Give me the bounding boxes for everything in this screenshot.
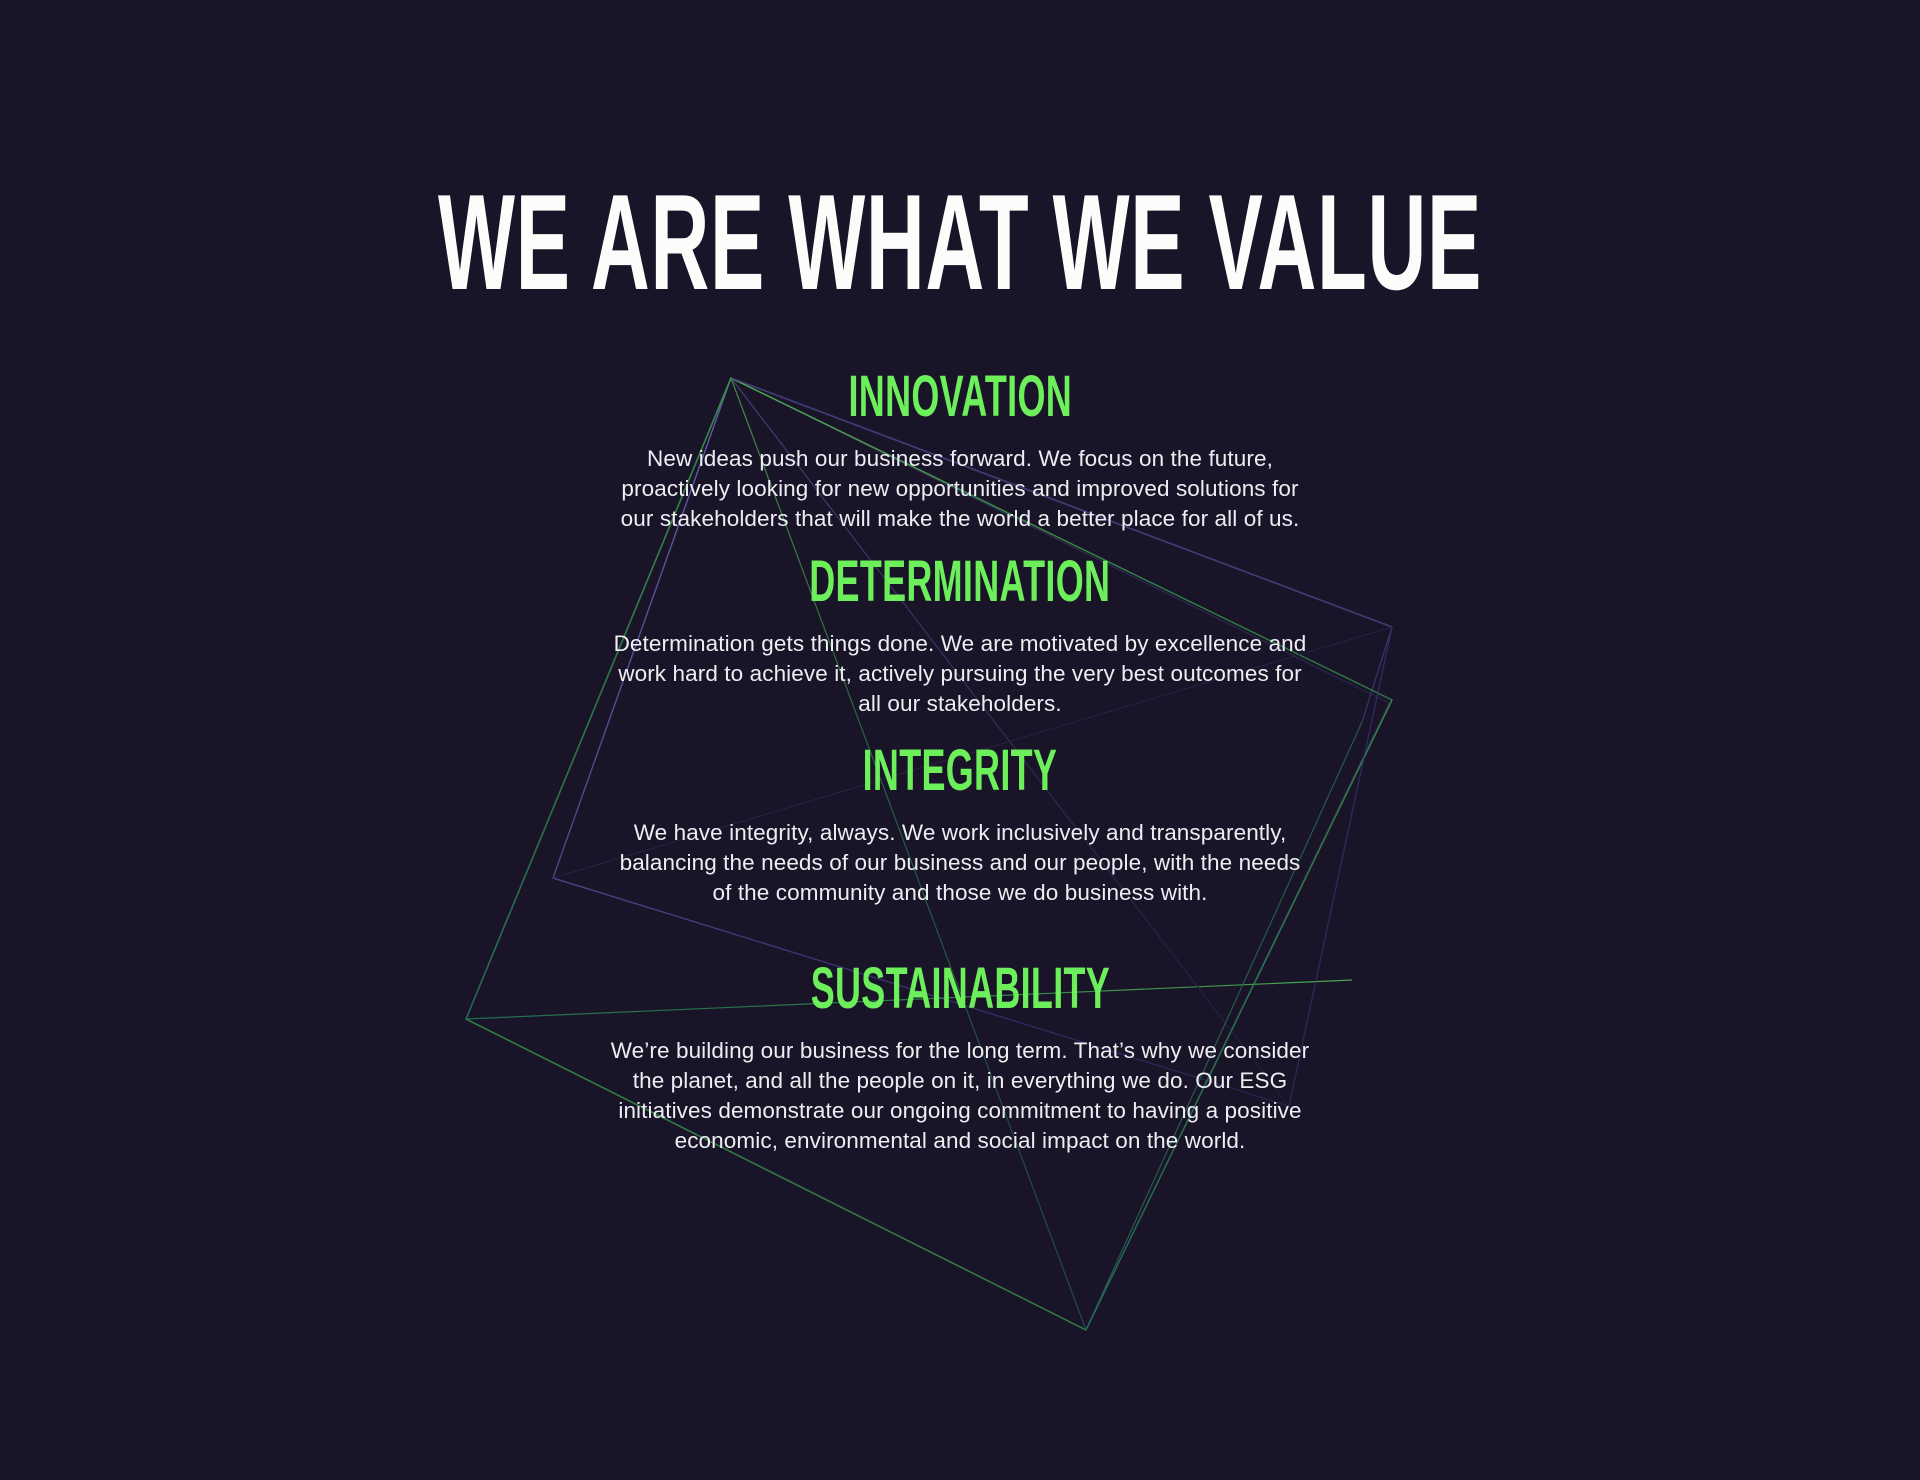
value-section-innovation: INNOVATION New ideas push our business f… bbox=[600, 368, 1320, 534]
value-section-integrity: INTEGRITY We have integrity, always. We … bbox=[600, 742, 1320, 908]
value-body-integrity: We have integrity, always. We work inclu… bbox=[610, 818, 1310, 908]
page-title: WE ARE WHAT WE VALUE bbox=[438, 178, 1482, 307]
value-body-innovation: New ideas push our business forward. We … bbox=[610, 444, 1310, 534]
value-section-sustainability: SUSTAINABILITY We’re building our busine… bbox=[600, 960, 1320, 1156]
value-heading-text: SUSTAINABILITY bbox=[810, 960, 1109, 1018]
value-heading-text: DETERMINATION bbox=[809, 553, 1110, 611]
value-heading-text: INTEGRITY bbox=[863, 742, 1058, 800]
value-heading-text: INNOVATION bbox=[848, 368, 1072, 426]
value-heading-sustainability: SUSTAINABILITY bbox=[600, 960, 1320, 1018]
value-body-sustainability: We’re building our business for the long… bbox=[610, 1036, 1310, 1156]
values-page: WE ARE WHAT WE VALUE INNOVATION New idea… bbox=[0, 0, 1920, 1480]
value-heading-innovation: INNOVATION bbox=[600, 368, 1320, 426]
value-body-determination: Determination gets things done. We are m… bbox=[610, 629, 1310, 719]
value-section-determination: DETERMINATION Determination gets things … bbox=[600, 553, 1320, 719]
content-column: WE ARE WHAT WE VALUE INNOVATION New idea… bbox=[0, 0, 1920, 1480]
value-heading-integrity: INTEGRITY bbox=[600, 742, 1320, 800]
value-heading-determination: DETERMINATION bbox=[600, 553, 1320, 611]
